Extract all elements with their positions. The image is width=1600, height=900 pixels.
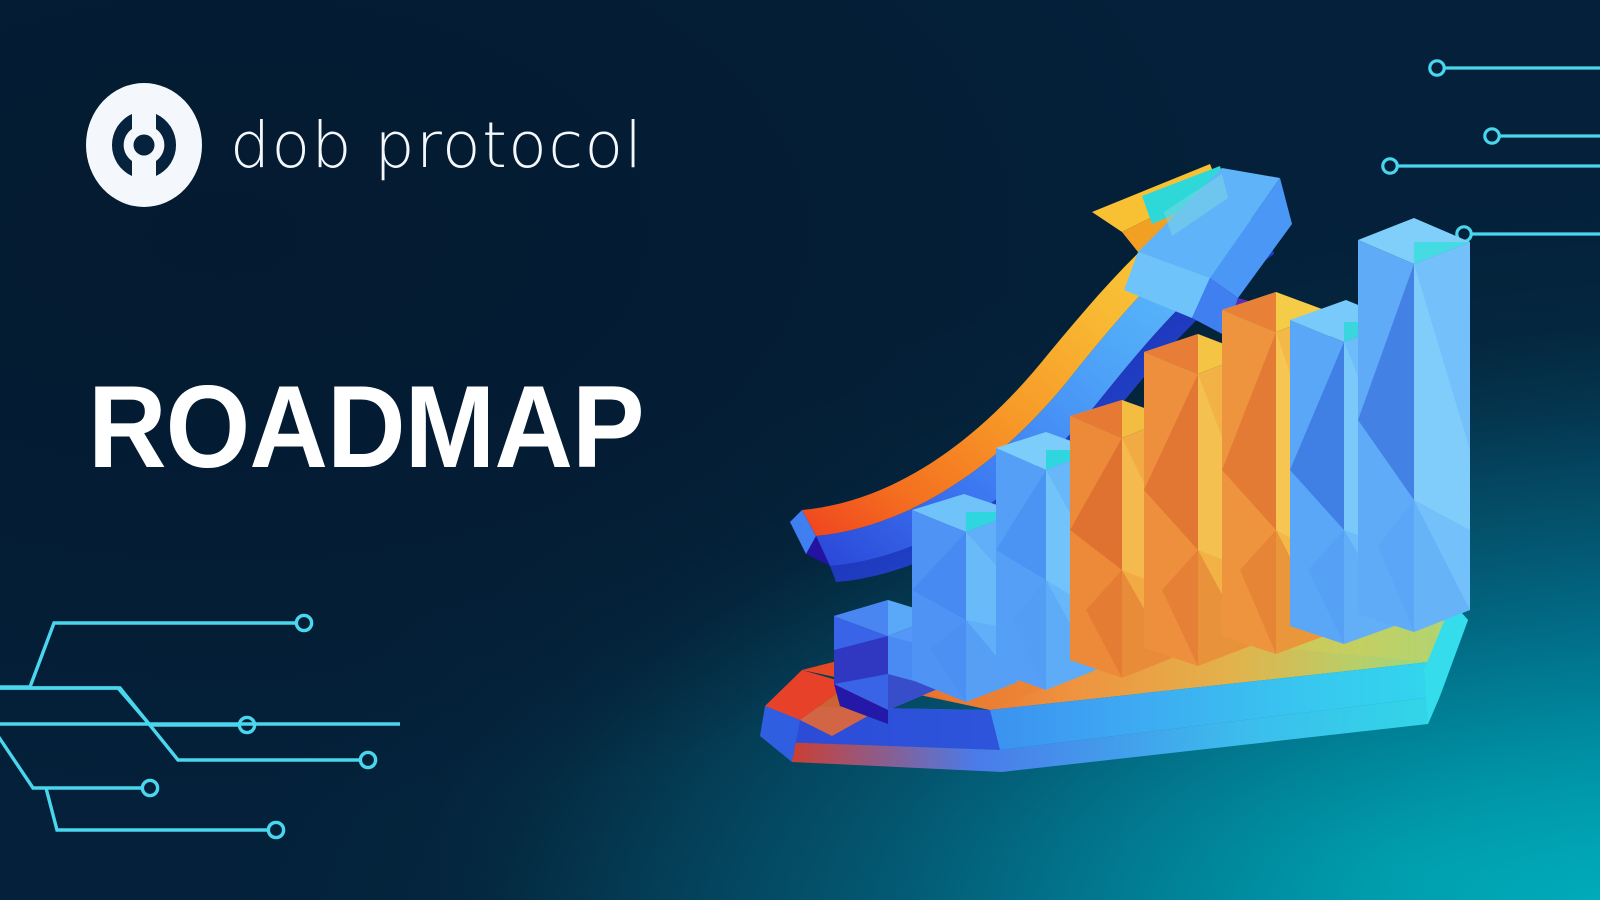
3d-growth-bar-chart-illustration [740, 150, 1480, 790]
page-title: ROADMAP [88, 368, 644, 485]
brand-wordmark: dob protocol [230, 114, 644, 177]
dob-logo-circle-icon [82, 83, 206, 207]
poster-canvas: dob protocol ROADMAP [0, 0, 1600, 900]
logo-lockup[interactable]: dob protocol [82, 83, 644, 207]
bar-8 [1358, 218, 1470, 632]
